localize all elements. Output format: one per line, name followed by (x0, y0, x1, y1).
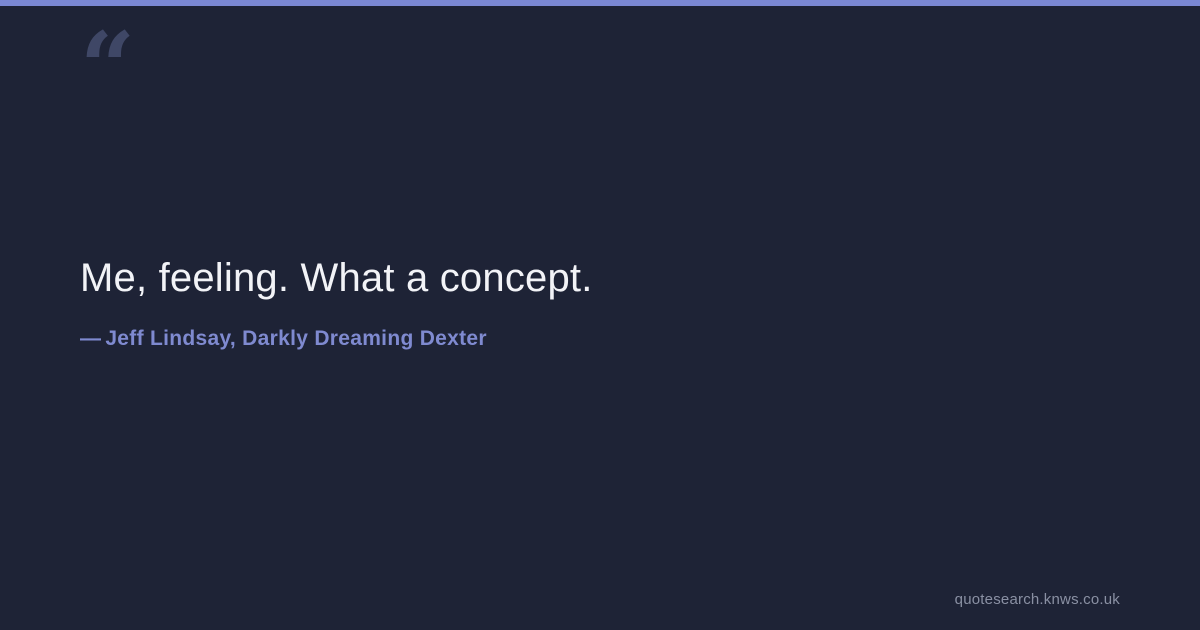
quote-attribution: —Jeff Lindsay, Darkly Dreaming Dexter (80, 326, 1120, 351)
quote-text: Me, feeling. What a concept. (80, 252, 1120, 304)
attribution-separator: , (230, 327, 242, 350)
open-quote-icon: “ (80, 20, 133, 116)
attribution-source: Darkly Dreaming Dexter (242, 327, 487, 350)
top-accent-bar (0, 0, 1200, 6)
attribution-author: Jeff Lindsay (105, 327, 230, 350)
quote-card: “ Me, feeling. What a concept. —Jeff Lin… (0, 0, 1200, 630)
quote-content: Me, feeling. What a concept. —Jeff Linds… (80, 252, 1120, 351)
attribution-dash: — (80, 327, 101, 350)
site-footer-url: quotesearch.knws.co.uk (955, 591, 1120, 608)
